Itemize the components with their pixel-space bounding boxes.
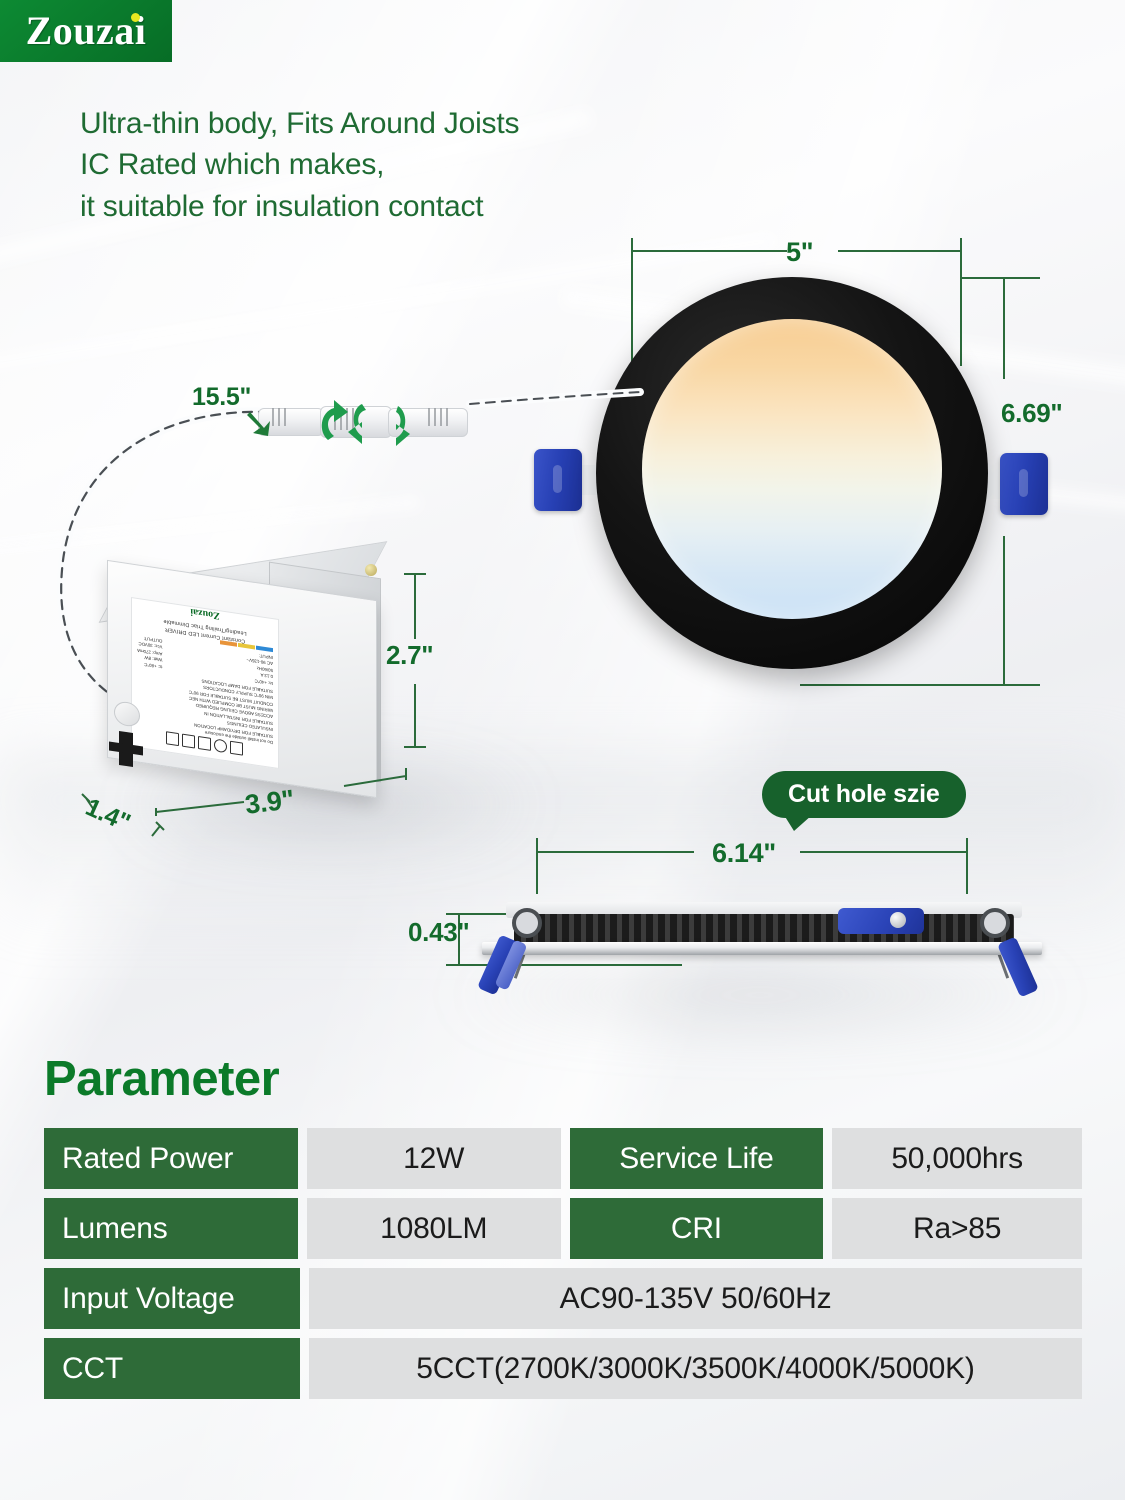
downlight-fixture-front-view <box>596 277 988 669</box>
dim-ext-669 <box>1003 277 1005 379</box>
spring-hinge-left <box>512 908 542 938</box>
cell-value-rated-power: 12W <box>307 1128 561 1189</box>
cell-value-lumens: 1080LM <box>307 1198 561 1259</box>
mounting-clip-right <box>1000 453 1048 515</box>
downlight-side-view <box>440 880 1080 1010</box>
fixture-trim-plate <box>482 942 1042 955</box>
dim-label-cable-length: 15.5" <box>192 383 251 412</box>
cell-label-service-life: Service Life <box>570 1128 824 1189</box>
table-row: Lumens 1080LM CRI Ra>85 <box>44 1198 1082 1259</box>
downlight-lens-cct-gradient <box>642 319 942 619</box>
driver-screw <box>365 564 377 576</box>
dim-ext-27-upper <box>414 573 416 639</box>
dim-label-669: 6.69" <box>1001 398 1062 429</box>
spring-hinge-right <box>980 908 1010 938</box>
dim-ext-27-lower <box>414 684 416 748</box>
dim-label-5in: 5" <box>786 237 813 268</box>
parameter-table: Rated Power 12W Service Life 50,000hrs L… <box>44 1128 1082 1399</box>
cell-label-lumens: Lumens <box>44 1198 298 1259</box>
dim-line-27-bottom <box>404 746 426 748</box>
cell-label-rated-power: Rated Power <box>44 1128 298 1189</box>
dim-line-669-base <box>800 684 962 686</box>
dim-line-614-left <box>536 851 694 853</box>
dim-line-5in <box>631 250 787 252</box>
cell-value-cri: Ra>85 <box>832 1198 1082 1259</box>
logo-dot-icon <box>131 13 140 22</box>
cut-hole-callout: Cut hole szie <box>762 771 966 818</box>
table-row: Input Voltage AC90-135V 50/60Hz <box>44 1268 1082 1329</box>
dim-ext-669-lower <box>1003 536 1005 684</box>
dim-line-614-right <box>800 851 966 853</box>
table-row: CCT 5CCT(2700K/3000K/3500K/4000K/5000K) <box>44 1338 1082 1399</box>
cell-label-cri: CRI <box>570 1198 824 1259</box>
cell-value-cct: 5CCT(2700K/3000K/3500K/4000K/5000K) <box>309 1338 1082 1399</box>
mounting-clip-top <box>838 908 924 934</box>
cell-label-input-voltage: Input Voltage <box>44 1268 300 1329</box>
brand-logo-text: Zouzai <box>26 11 147 51</box>
cell-value-input-voltage: AC90-135V 50/60Hz <box>309 1268 1082 1329</box>
dim-label-driver-height: 2.7" <box>386 640 433 671</box>
cell-value-service-life: 50,000hrs <box>832 1128 1082 1189</box>
table-row: Rated Power 12W Service Life 50,000hrs <box>44 1128 1082 1189</box>
fixture-heatsink-fins <box>514 914 1014 944</box>
cell-label-cct: CCT <box>44 1338 300 1399</box>
dim-label-driver-length: 3.9" <box>243 784 296 821</box>
headline-text: Ultra-thin body, Fits Around Joists IC R… <box>80 103 519 227</box>
product-infographic: Zouzai Ultra-thin body, Fits Around Jois… <box>0 0 1125 1500</box>
dim-label-cut-hole: 6.14" <box>712 838 776 869</box>
dim-line-5in-right <box>838 250 962 252</box>
dim-line-669-bottom <box>960 684 1040 686</box>
page-title: Parameter <box>44 1051 279 1107</box>
cable-length-arrow-icon <box>244 408 276 440</box>
led-driver-box: Do not install outside the enclosure SUI… <box>83 556 401 786</box>
driver-spec-label: Do not install outside the enclosure SUI… <box>131 597 279 769</box>
brand-logo: Zouzai <box>0 0 172 62</box>
twist-arrows-icon <box>310 390 430 452</box>
